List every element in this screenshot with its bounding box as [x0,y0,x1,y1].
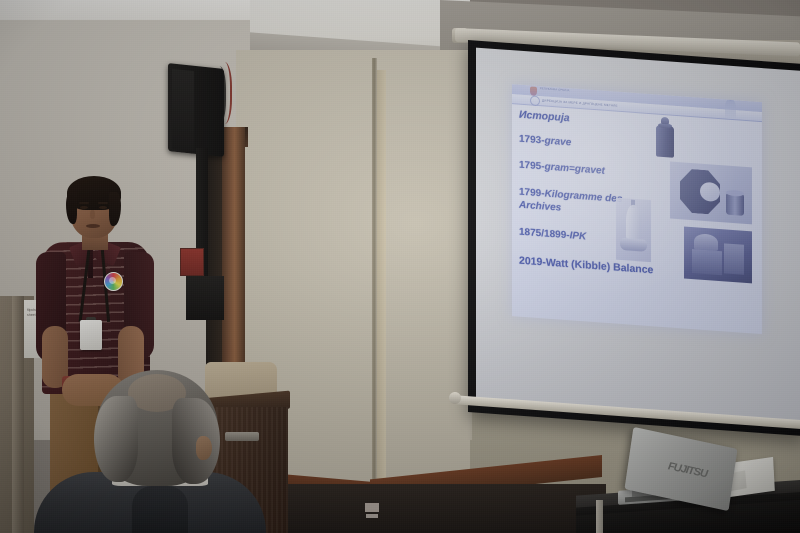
wall-pillar-trim [377,70,386,533]
slide-line-1: 1793-grave [519,134,571,149]
slide-image-kibble-balance [684,226,752,283]
projection-screen: РЕПУБЛИКА СРБИЈА ДИРЕКЦИЈА ЗА МЕРЕ И ДРА… [468,40,800,436]
slide-line-6-year: 2019- [519,255,546,269]
slide-line-2-year: 1795- [519,160,545,173]
attendee-ear [196,436,212,460]
slide-line-2-term: gram=gravet [545,161,605,176]
presenter-eyebrow-left [79,202,89,204]
slide-line-3-year: 1799- [519,187,545,200]
slide-line-5-term: IPK [570,230,587,242]
attendee-hair-left [94,396,138,482]
fire-alarm-window [365,503,379,512]
octagon-bore [700,182,720,202]
ipk-base [620,238,647,252]
floor-shadow [236,484,606,533]
fire-alarm-label [366,514,378,518]
fire-alarm-icon [180,248,204,276]
presenter-mouth [86,224,100,228]
presenter-id-badge [80,320,102,350]
pa-speaker-bracket [186,276,224,320]
presenter-eye-left [80,206,88,209]
slide-line-5-year: 1875/1899- [519,227,570,242]
lectern-name-plate [225,432,259,441]
directorate-seal-icon [530,95,540,106]
kibble-frame [692,249,722,275]
pa-speaker-grille [172,69,194,151]
slide-line-5: 1875/1899-IPK [519,227,586,243]
slide-image-weight [652,116,678,158]
coat-of-arms-icon [530,86,537,96]
flipchart-leg [12,296,24,533]
presenter-eye-right [99,206,107,209]
weight-knob [661,117,669,125]
presenter-pin-badge-center [109,277,116,284]
octagon-block [680,168,720,215]
slide-line-1-year: 1793- [519,134,545,147]
cylinder-standard [726,192,744,215]
kibble-side-unit [724,243,744,274]
presenter-hair-left-side [66,192,77,224]
presenter-nose [90,210,95,219]
slide-body: Историја 1793-grave 1795-gram=gravet 179… [512,104,762,334]
attendee-suit-lapel [132,486,188,533]
projected-slide: РЕПУБЛИКА СРБИЈА ДИРЕКЦИЈА ЗА МЕРЕ И ДРА… [512,84,762,334]
slide-image-ipk [616,198,651,263]
slide-line-2: 1795-gram=gravet [519,160,605,177]
speaker-cable-black [210,66,226,124]
slide-line-1-term: grave [545,135,572,148]
ipk-bell-jar [626,204,641,239]
weight-body [656,125,674,157]
ceiling-secondary [0,0,250,22]
kibble-top-assembly [694,233,718,251]
screen-surface: РЕПУБЛИКА СРБИЈА ДИРЕКЦИЈА ЗА МЕРЕ И ДРА… [476,48,800,425]
presenter-eyebrow-right [98,202,108,204]
table-leg [596,500,603,533]
slide-title: Историја [519,109,570,125]
slide-image-octagonal-standard [670,161,752,224]
slide-line-4: Archives [519,200,561,214]
header-weight-graphic [725,98,736,119]
photograph-scene: РЕПУБЛИКА СРБИЈА ДИРЕКЦИЈА ЗА МЕРЕ И ДРА… [0,0,800,533]
screen-bottom-bar-cap [449,392,461,404]
